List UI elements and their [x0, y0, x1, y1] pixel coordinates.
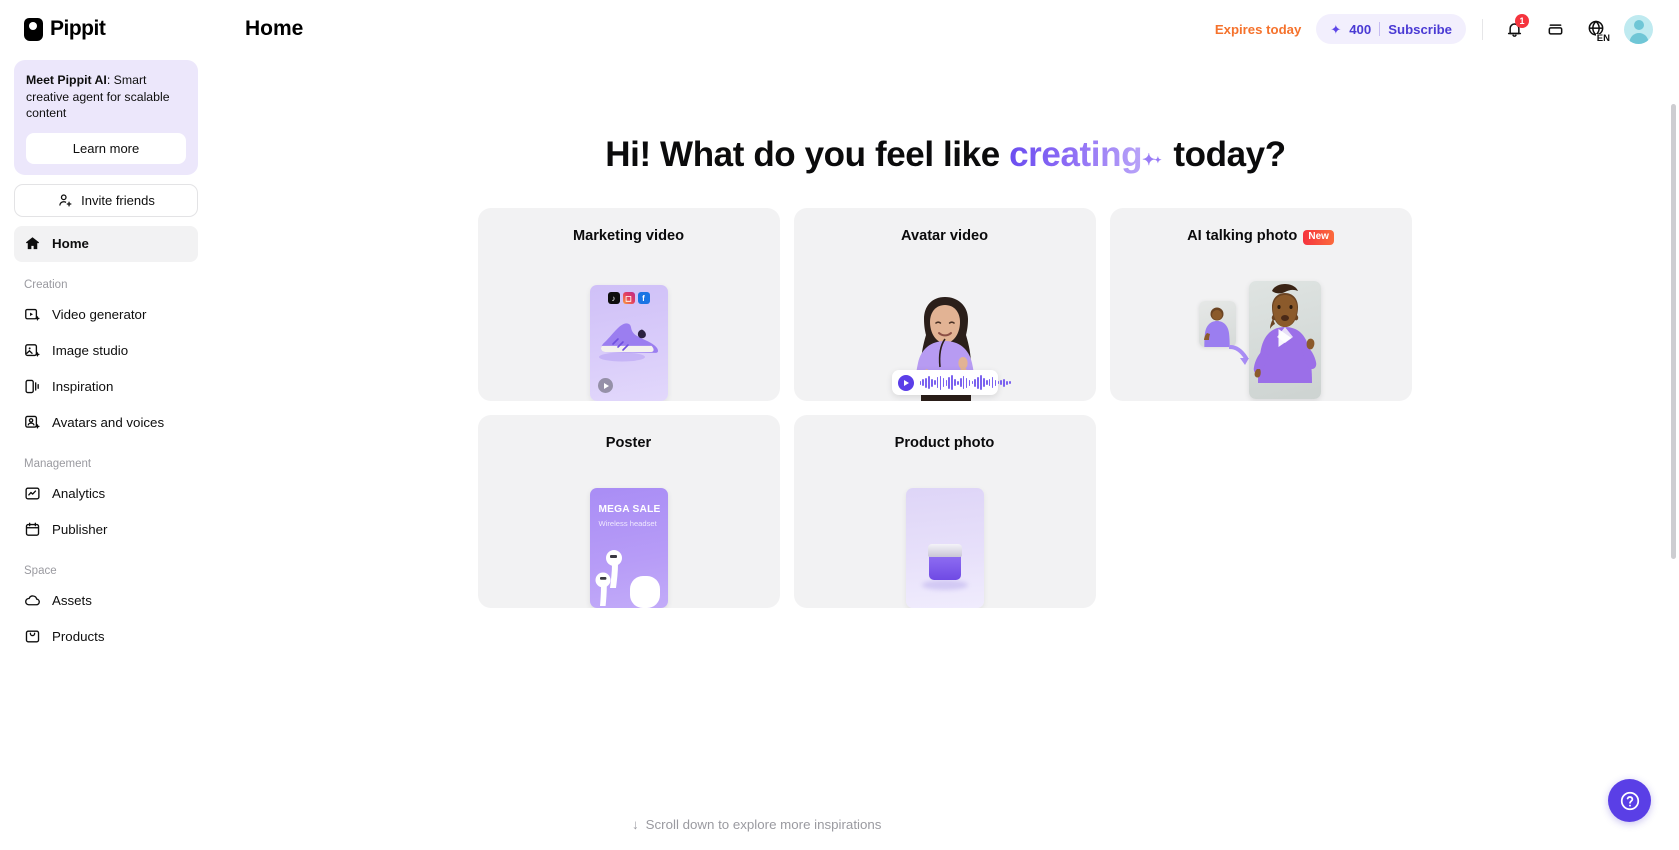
- user-avatar[interactable]: [1624, 15, 1653, 44]
- brand-logo[interactable]: Pippit: [14, 0, 198, 58]
- sidebar-item-image-studio-label: Image studio: [52, 343, 128, 358]
- sneaker-illustration: [598, 319, 660, 363]
- cream-jar-body: [929, 556, 961, 580]
- play-icon: [898, 375, 914, 391]
- ai-talking-photo-thumbnail: [1110, 279, 1412, 401]
- notifications-button[interactable]: 1: [1499, 14, 1529, 44]
- top-bar-actions: Expires today ✦ 400 Subscribe 1: [1215, 14, 1653, 44]
- card-avatar-video[interactable]: Avatar video: [794, 208, 1096, 401]
- sidebar-item-home-label: Home: [52, 236, 89, 251]
- sidebar-item-image-studio[interactable]: Image studio: [14, 333, 198, 369]
- sidebar-item-products[interactable]: Products: [14, 619, 198, 655]
- question-circle-icon: [1619, 790, 1641, 812]
- heading-highlight: creating: [1009, 135, 1142, 174]
- status-badge-new: New: [1303, 230, 1334, 245]
- thumb-frame: MEGA SALE Wireless headset: [590, 488, 668, 608]
- page-title: Home: [245, 17, 303, 41]
- calendar-icon: [24, 521, 41, 538]
- notification-count-badge: 1: [1515, 14, 1529, 28]
- sidebar-item-assets-label: Assets: [52, 593, 92, 608]
- app-root: Pippit Meet Pippit AI: Smart creative ag…: [0, 0, 1679, 850]
- scrollbar-thumb[interactable]: [1671, 104, 1676, 559]
- pippit-logo-icon: [24, 18, 43, 41]
- inspiration-icon: [24, 378, 41, 395]
- promo-title: Meet Pippit AI: [26, 73, 107, 87]
- stack-icon: [1546, 20, 1565, 39]
- sidebar-item-publisher-label: Publisher: [52, 522, 107, 537]
- poster-thumbnail: MEGA SALE Wireless headset: [478, 486, 780, 608]
- cloud-icon: [24, 592, 41, 609]
- avatar-video-thumbnail: [794, 279, 1096, 401]
- help-button[interactable]: [1608, 779, 1651, 822]
- sidebar-nav: Home Creation Video generator Image st: [14, 226, 198, 655]
- analytics-icon: [24, 485, 41, 502]
- language-code: EN: [1596, 34, 1610, 43]
- product-photo-thumbnail: [794, 486, 1096, 608]
- sidebar-item-inspiration-label: Inspiration: [52, 379, 113, 394]
- card-marketing-video[interactable]: Marketing video ♪ ◻ f: [478, 208, 780, 401]
- instagram-icon: ◻: [623, 292, 635, 304]
- card-ai-talking-photo-label: AI talking photo: [1187, 228, 1297, 244]
- pill-divider: [1379, 22, 1380, 36]
- source-photo: [1199, 301, 1236, 347]
- sidebar-item-inspiration[interactable]: Inspiration: [14, 369, 198, 405]
- expires-label[interactable]: Expires today: [1215, 22, 1302, 37]
- promo-banner: Meet Pippit AI: Smart creative agent for…: [14, 60, 198, 175]
- heading-text-before: Hi! What do you feel like: [605, 135, 1009, 174]
- sidebar-item-home[interactable]: Home: [14, 226, 198, 262]
- thumb-frame: [1199, 279, 1323, 401]
- top-bar: Home Expires today ✦ 400 Subscribe: [212, 0, 1679, 58]
- audio-player: [892, 370, 998, 395]
- promo-text: Meet Pippit AI: Smart creative agent for…: [26, 72, 186, 122]
- avatar-plus-icon: [24, 414, 41, 431]
- poster-headline: MEGA SALE: [599, 504, 661, 515]
- brand-name: Pippit: [50, 17, 105, 41]
- bag-icon: [24, 628, 41, 645]
- thumb-frame: [887, 283, 1003, 401]
- sidebar-item-video-generator[interactable]: Video generator: [14, 297, 198, 333]
- credits-pill[interactable]: ✦ 400 Subscribe: [1316, 14, 1466, 44]
- sidebar-item-avatars-and-voices-label: Avatars and voices: [52, 415, 164, 430]
- feature-card-grid: Marketing video ♪ ◻ f: [478, 208, 1414, 608]
- divider: [1482, 19, 1483, 40]
- card-ai-talking-photo[interactable]: AI talking photo New: [1110, 208, 1412, 401]
- page-heading: Hi! What do you feel like creating✦✦ tod…: [212, 135, 1679, 175]
- arrow-down-icon: ↓: [632, 817, 639, 832]
- card-title: Avatar video: [794, 208, 1096, 244]
- learn-more-button[interactable]: Learn more: [26, 133, 186, 164]
- tiktok-icon: ♪: [608, 292, 620, 304]
- sidebar-item-assets[interactable]: Assets: [14, 583, 198, 619]
- result-video: [1249, 281, 1321, 399]
- scroll-hint-label: Scroll down to explore more inspirations: [646, 817, 882, 832]
- waveform-icon: [920, 375, 1011, 390]
- sidebar-item-publisher[interactable]: Publisher: [14, 512, 198, 548]
- play-icon: [598, 378, 613, 393]
- home-icon: [24, 235, 41, 252]
- sidebar-item-analytics[interactable]: Analytics: [14, 476, 198, 512]
- card-product-photo-label: Product photo: [895, 435, 995, 451]
- image-plus-icon: [24, 342, 41, 359]
- video-plus-icon: [24, 306, 41, 323]
- card-marketing-video-label: Marketing video: [573, 228, 684, 244]
- sidebar: Pippit Meet Pippit AI: Smart creative ag…: [0, 0, 212, 850]
- language-button[interactable]: EN: [1581, 14, 1611, 44]
- sparkle-icon: ✦: [1330, 23, 1341, 36]
- workspace-button[interactable]: [1540, 14, 1570, 44]
- play-icon: [1278, 329, 1291, 347]
- sidebar-group-management: Management: [14, 458, 198, 470]
- user-plus-icon: [57, 192, 74, 209]
- invite-friends-button[interactable]: Invite friends: [14, 184, 198, 217]
- sidebar-item-products-label: Products: [52, 629, 104, 644]
- heading-text-after: today?: [1164, 135, 1286, 174]
- earbuds-illustration: [590, 538, 668, 608]
- invite-friends-label: Invite friends: [81, 193, 155, 208]
- card-title: Product photo: [794, 415, 1096, 451]
- poster-subheadline: Wireless headset: [599, 519, 657, 528]
- thumb-frame: [906, 488, 984, 608]
- jar-shadow: [922, 580, 968, 590]
- card-poster[interactable]: Poster MEGA SALE Wireless headset: [478, 415, 780, 608]
- man-small-illustration: [1199, 301, 1236, 347]
- sidebar-group-space: Space: [14, 565, 198, 577]
- sidebar-item-avatars-and-voices[interactable]: Avatars and voices: [14, 405, 198, 441]
- content-scroll-area: Hi! What do you feel like creating✦✦ tod…: [212, 58, 1679, 850]
- sidebar-group-creation: Creation: [14, 279, 198, 291]
- credits-value: 400: [1349, 22, 1371, 37]
- card-title: Poster: [478, 415, 780, 451]
- main-area: Home Expires today ✦ 400 Subscribe: [212, 0, 1679, 850]
- marketing-video-thumbnail: ♪ ◻ f: [478, 279, 780, 401]
- subscribe-button[interactable]: Subscribe: [1388, 22, 1452, 37]
- scroll-hint[interactable]: ↓ Scroll down to explore more inspiratio…: [632, 817, 881, 832]
- social-icon-row: ♪ ◻ f: [608, 292, 650, 304]
- card-title: Marketing video: [478, 208, 780, 244]
- sidebar-item-video-generator-label: Video generator: [52, 307, 146, 322]
- card-product-photo[interactable]: Product photo: [794, 415, 1096, 608]
- sidebar-item-analytics-label: Analytics: [52, 486, 105, 501]
- card-title: AI talking photo New: [1110, 208, 1412, 244]
- thumb-frame: ♪ ◻ f: [590, 285, 668, 401]
- card-poster-label: Poster: [606, 435, 651, 451]
- facebook-icon: f: [638, 292, 650, 304]
- scrollbar-track[interactable]: [1671, 104, 1676, 844]
- card-avatar-video-label: Avatar video: [901, 228, 988, 244]
- cream-jar-lid: [928, 544, 962, 557]
